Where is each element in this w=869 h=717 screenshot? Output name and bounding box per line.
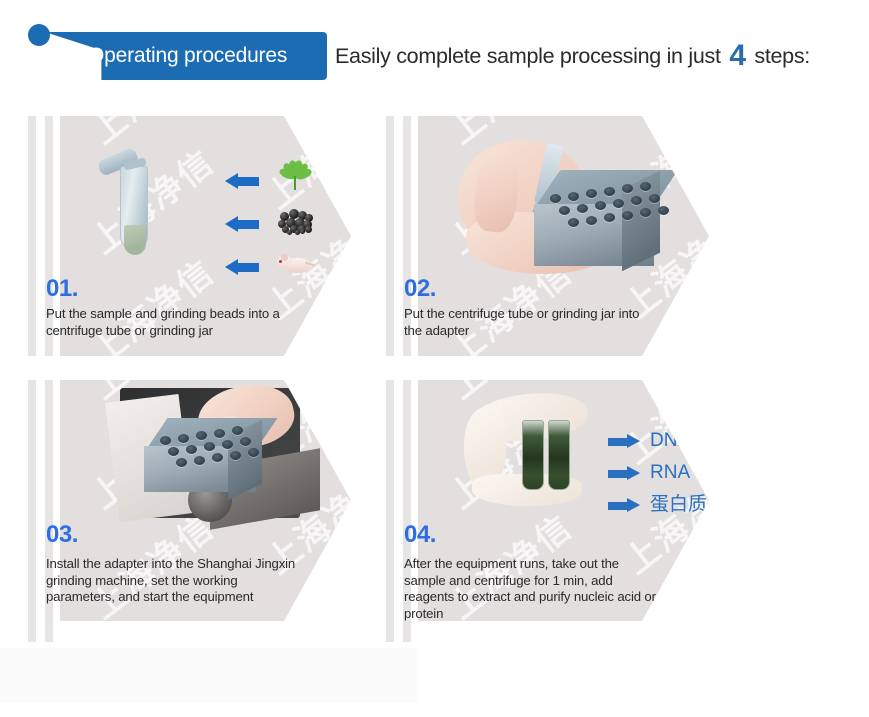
steps-grid: 上海净信上海净信上海净信上海净信上海净信上海净信上海净信上海净信上海净信上海净信…	[0, 108, 869, 656]
stripe-decoration	[28, 116, 36, 356]
adapter-well	[550, 194, 561, 203]
step-description: Put the sample and grinding beads into a…	[46, 306, 298, 339]
stripe-decoration	[386, 116, 394, 356]
adapter-well	[194, 456, 205, 465]
step-number: 04.	[404, 522, 436, 548]
adapter-well	[568, 192, 579, 201]
adapter-well	[214, 429, 225, 438]
step-card-04: 上海净信上海净信上海净信上海净信上海净信上海净信上海净信上海净信上海净信上海净信…	[386, 380, 776, 642]
step-card-03: 上海净信上海净信上海净信上海净信上海净信上海净信上海净信上海净信上海净信上海净信…	[28, 380, 418, 642]
grinding-beads-icon	[278, 208, 314, 234]
sample-tube-icon	[522, 420, 544, 490]
adapter-well	[604, 187, 615, 196]
adapter-well	[178, 434, 189, 443]
step-description: Put the centrifuge tube or grinding jar …	[404, 306, 656, 339]
banner-label: Operating procedures	[88, 42, 318, 70]
step-number: 01.	[46, 276, 78, 302]
arrow-left-icon	[225, 173, 259, 189]
adapter-well	[622, 211, 633, 220]
output-label-dna: DNA	[650, 428, 690, 453]
output-label-protein: 蛋白质	[650, 492, 707, 517]
adapter-well	[160, 436, 171, 445]
stripe-decoration	[386, 380, 394, 642]
adapter-well	[658, 206, 669, 215]
adapter-well	[649, 194, 660, 203]
lab-mouse-icon	[277, 252, 315, 276]
adapter-well	[577, 204, 588, 213]
header-dot-icon	[28, 24, 50, 46]
arrow-left-icon	[225, 259, 259, 275]
step-count-number: 4	[726, 39, 748, 72]
arrow-right-icon	[608, 434, 640, 449]
tagline-text-after: steps:	[754, 44, 810, 68]
adapter-well	[640, 182, 651, 191]
adapter-well	[586, 216, 597, 225]
step-number: 03.	[46, 522, 78, 548]
step-card-01: 上海净信上海净信上海净信上海净信上海净信上海净信上海净信上海净信上海净信上海净信…	[28, 116, 418, 356]
stripe-decoration	[28, 380, 36, 642]
adapter-well	[222, 440, 233, 449]
adapter-well	[568, 218, 579, 227]
watermark-text: 上海净信	[79, 246, 223, 356]
grinding-bead	[305, 226, 312, 233]
leaf-stem	[294, 176, 296, 190]
step-description: Install the adapter into the Shanghai Ji…	[46, 556, 298, 606]
step-description: After the equipment runs, take out the s…	[404, 556, 656, 622]
tagline-text-before: Easily complete sample processing in jus…	[335, 44, 721, 68]
adapter-well	[186, 445, 197, 454]
arrow-left-icon	[225, 216, 259, 232]
watermark-text: 上海净信	[79, 136, 223, 263]
grinding-bead	[287, 230, 292, 235]
background-panel	[0, 648, 418, 703]
arrow-right-icon	[608, 466, 640, 481]
page-title: Easily complete sample processing in jus…	[335, 41, 810, 71]
step-card-02: 上海净信上海净信上海净信上海净信上海净信上海净信上海净信上海净信上海净信上海净信…	[386, 116, 776, 356]
adapter-well	[613, 199, 624, 208]
sample-tube-icon	[548, 420, 570, 490]
adapter-well	[168, 447, 179, 456]
step-number: 02.	[404, 276, 436, 302]
output-label-rna: RNA	[650, 460, 690, 485]
adapter-well	[230, 451, 241, 460]
page-header: Operating procedures Easily complete sam…	[0, 0, 869, 100]
watermark-text: 上海净信	[79, 116, 223, 153]
watermark-text: 上海净信	[79, 611, 223, 642]
green-leaf-icon	[278, 158, 312, 192]
adapter-well	[176, 458, 187, 467]
arrow-right-icon	[608, 498, 640, 513]
centrifuge-tube-icon	[120, 158, 150, 250]
grinding-bead	[300, 229, 305, 234]
adapter-well	[559, 206, 570, 215]
